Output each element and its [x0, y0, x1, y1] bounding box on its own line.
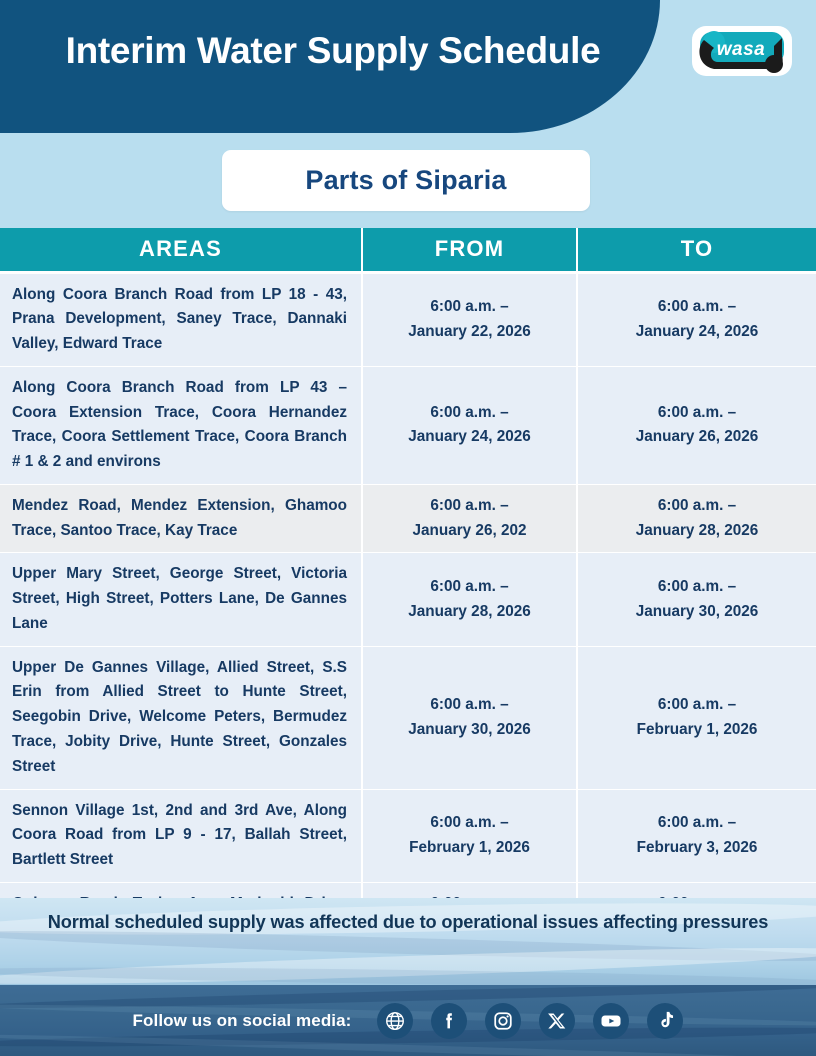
wasa-wordmark: wasa: [717, 39, 765, 60]
cell-to: 6:00 a.m. – February 3, 2026: [577, 789, 816, 882]
column-header-from: FROM: [362, 228, 577, 272]
column-header-to: TO: [577, 228, 816, 272]
column-header-areas: AREAS: [0, 228, 362, 272]
schedule-table-head: AREAS FROM TO: [0, 228, 816, 272]
cell-areas: Mendez Road, Mendez Extension, Ghamoo Tr…: [0, 484, 362, 553]
website-globe-icon[interactable]: [377, 1003, 413, 1039]
wasa-logo-icon: wasa: [688, 22, 796, 84]
table-row: Quinam Road, Taylor Ave, Marigold Drive,…: [0, 882, 816, 898]
cell-areas: Upper De Gannes Village, Allied Street, …: [0, 646, 362, 789]
table-header-row: AREAS FROM TO: [0, 228, 816, 272]
cell-areas: Upper Mary Street, George Street, Victor…: [0, 553, 362, 646]
cell-from: 6:00 a.m. – January 30, 2026: [362, 646, 577, 789]
cell-to: 6:00 a.m. – February 1, 2026: [577, 646, 816, 789]
schedule-table-body: Along Coora Branch Road from LP 18 - 43,…: [0, 272, 816, 898]
x-twitter-icon[interactable]: [539, 1003, 575, 1039]
cell-from: 6:00 a.m. – January 28, 2026: [362, 553, 577, 646]
cell-areas: Sennon Village 1st, 2nd and 3rd Ave, Alo…: [0, 789, 362, 882]
cell-from: 6:00 a.m. – January 22, 2026: [362, 272, 577, 366]
cell-areas: Along Coora Branch Road from LP 43 – Coo…: [0, 366, 362, 484]
cell-to: 6:00 a.m. – January 24, 2026: [577, 272, 816, 366]
table-row: Along Coora Branch Road from LP 18 - 43,…: [0, 272, 816, 366]
wasa-logo: wasa: [688, 22, 796, 84]
notice-band: Normal scheduled supply was affected due…: [0, 898, 816, 985]
youtube-icon[interactable]: [593, 1003, 629, 1039]
cell-to: 6:00 a.m. – January 30, 2026: [577, 553, 816, 646]
table-row: Sennon Village 1st, 2nd and 3rd Ave, Alo…: [0, 789, 816, 882]
table-row: Along Coora Branch Road from LP 43 – Coo…: [0, 366, 816, 484]
cell-to: 6:00 a.m. – February 4, 2026: [577, 882, 816, 898]
region-subtitle-box: Parts of Siparia: [222, 150, 590, 211]
social-row: Follow us on social media:: [0, 985, 816, 1056]
region-subtitle: Parts of Siparia: [305, 165, 506, 196]
table-row: Mendez Road, Mendez Extension, Ghamoo Tr…: [0, 484, 816, 553]
instagram-icon[interactable]: [485, 1003, 521, 1039]
table-row: Upper Mary Street, George Street, Victor…: [0, 553, 816, 646]
schedule-table-container: AREAS FROM TO Along Coora Branch Road fr…: [0, 228, 816, 898]
cell-from: 6:00 a.m. – February 3, 2026: [362, 882, 577, 898]
tiktok-icon[interactable]: [647, 1003, 683, 1039]
follow-us-label: Follow us on social media:: [133, 1011, 352, 1031]
cell-to: 6:00 a.m. – January 26, 2026: [577, 366, 816, 484]
cell-from: 6:00 a.m. – January 26, 202: [362, 484, 577, 553]
social-footer: Follow us on social media:: [0, 985, 816, 1056]
cell-areas: Along Coora Branch Road from LP 18 - 43,…: [0, 272, 362, 366]
cell-from: 6:00 a.m. – February 1, 2026: [362, 789, 577, 882]
notice-text: Normal scheduled supply was affected due…: [0, 912, 816, 933]
facebook-icon[interactable]: [431, 1003, 467, 1039]
cell-to: 6:00 a.m. – January 28, 2026: [577, 484, 816, 553]
cell-areas: Quinam Road, Taylor Ave, Marigold Drive,…: [0, 882, 362, 898]
schedule-table: AREAS FROM TO Along Coora Branch Road fr…: [0, 228, 816, 898]
table-row: Upper De Gannes Village, Allied Street, …: [0, 646, 816, 789]
cell-from: 6:00 a.m. – January 24, 2026: [362, 366, 577, 484]
page-title: Interim Water Supply Schedule: [48, 30, 618, 71]
